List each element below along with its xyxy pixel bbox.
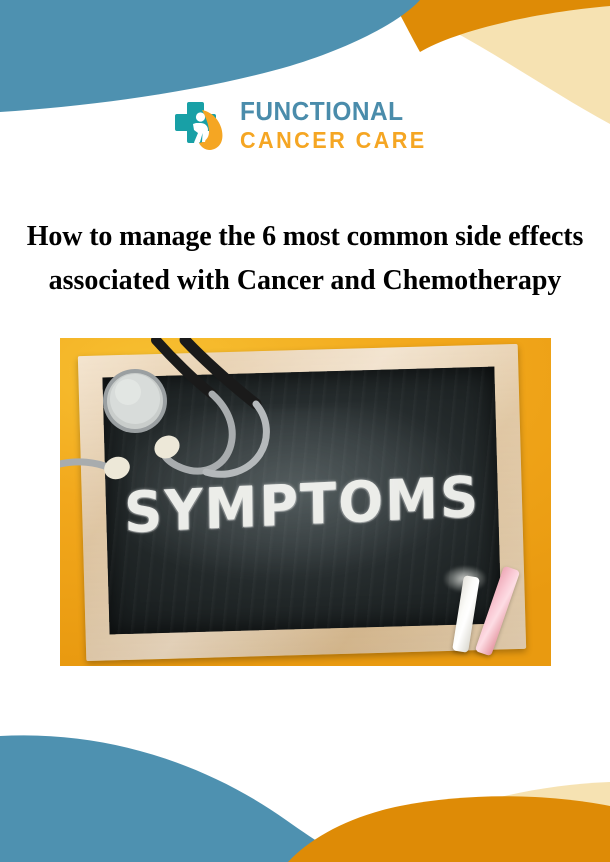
bottom-cream-wave-2	[330, 782, 610, 862]
brand-logo[interactable]: FUNCTIONAL CANCER CARE	[0, 98, 610, 152]
brand-name-line1: FUNCTIONAL	[240, 98, 427, 124]
top-cream-wave	[430, 0, 610, 56]
brand-wordmark: FUNCTIONAL CANCER CARE	[240, 98, 439, 152]
stethoscope-icon	[60, 338, 551, 666]
bottom-cream-wave	[322, 784, 610, 862]
bottom-blue-wave	[0, 735, 352, 862]
page-title-line1: How to manage the 6 most common side eff…	[0, 215, 610, 259]
brand-name-line2: CANCER CARE	[240, 129, 427, 152]
cover-page: FUNCTIONAL CANCER CARE How to manage the…	[0, 0, 610, 862]
hero-photo: SYMPTOMS	[60, 338, 551, 666]
medical-cross-with-person-icon	[172, 98, 230, 152]
page-title: How to manage the 6 most common side eff…	[0, 215, 610, 303]
bottom-orange-wave	[288, 796, 610, 862]
top-orange-wave	[392, 0, 610, 52]
page-title-line2: associated with Cancer and Chemotherapy	[0, 259, 610, 303]
